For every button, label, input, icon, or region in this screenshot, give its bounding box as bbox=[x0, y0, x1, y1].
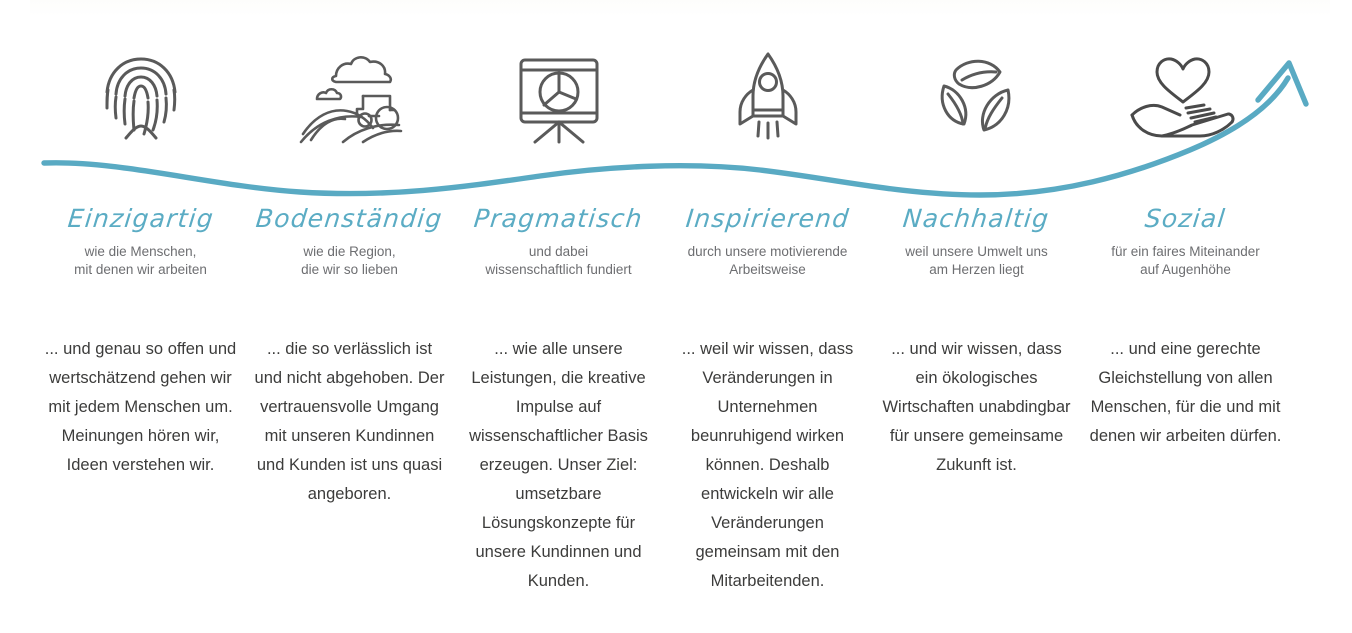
value-body: ... und genau so offen und wertschätzend… bbox=[43, 335, 239, 480]
value-column-einzigartig: Einzigartig wie die Menschen, mit denen … bbox=[36, 0, 245, 633]
value-body: ... die so verlässlich ist und nicht abg… bbox=[252, 335, 448, 509]
presentation-chart-icon bbox=[484, 0, 634, 150]
value-heading: Bodenständig bbox=[255, 206, 444, 231]
value-body: ... wie alle unsere Leistungen, die krea… bbox=[461, 335, 657, 596]
tractor-field-icon bbox=[275, 0, 425, 150]
value-heading: Nachhaltig bbox=[902, 206, 1051, 231]
value-heading: Inspirierend bbox=[684, 206, 850, 231]
value-column-inspirierend: Inspirierend durch unsere motivierende A… bbox=[663, 0, 872, 633]
heart-in-hand-icon bbox=[1111, 0, 1261, 150]
value-column-pragmatisch: Pragmatisch und dabei wissenschaftlich f… bbox=[454, 0, 663, 633]
value-heading: Pragmatisch bbox=[473, 206, 644, 231]
value-subheading: und dabei wissenschaftlich fundiert bbox=[485, 243, 631, 279]
leaf-recycle-icon bbox=[902, 0, 1052, 150]
value-columns: Einzigartig wie die Menschen, mit denen … bbox=[0, 0, 1352, 633]
value-body: ... weil wir wissen, dass Veränderungen … bbox=[670, 335, 866, 596]
value-column-nachhaltig: Nachhaltig weil unsere Umwelt uns am Her… bbox=[872, 0, 1081, 633]
value-heading: Sozial bbox=[1144, 206, 1227, 231]
value-subheading: für ein faires Miteinander auf Augenhöhe bbox=[1111, 243, 1260, 279]
value-column-bodenstaendig: Bodenständig wie die Region, die wir so … bbox=[245, 0, 454, 633]
value-subheading: weil unsere Umwelt uns am Herzen liegt bbox=[905, 243, 1048, 279]
value-heading: Einzigartig bbox=[66, 206, 215, 231]
value-subheading: durch unsere motivierende Arbeitsweise bbox=[688, 243, 848, 279]
values-infographic: Einzigartig wie die Menschen, mit denen … bbox=[0, 0, 1352, 633]
rocket-icon bbox=[693, 0, 843, 150]
value-subheading: wie die Menschen, mit denen wir arbeiten bbox=[74, 243, 207, 279]
value-body: ... und eine gerechte Gleichstellung von… bbox=[1088, 335, 1284, 451]
value-subheading: wie die Region, die wir so lieben bbox=[301, 243, 398, 279]
value-body: ... und wir wissen, dass ein ökologische… bbox=[879, 335, 1075, 480]
value-column-sozial: Sozial für ein faires Miteinander auf Au… bbox=[1081, 0, 1290, 633]
fingerprint-icon bbox=[66, 0, 216, 150]
